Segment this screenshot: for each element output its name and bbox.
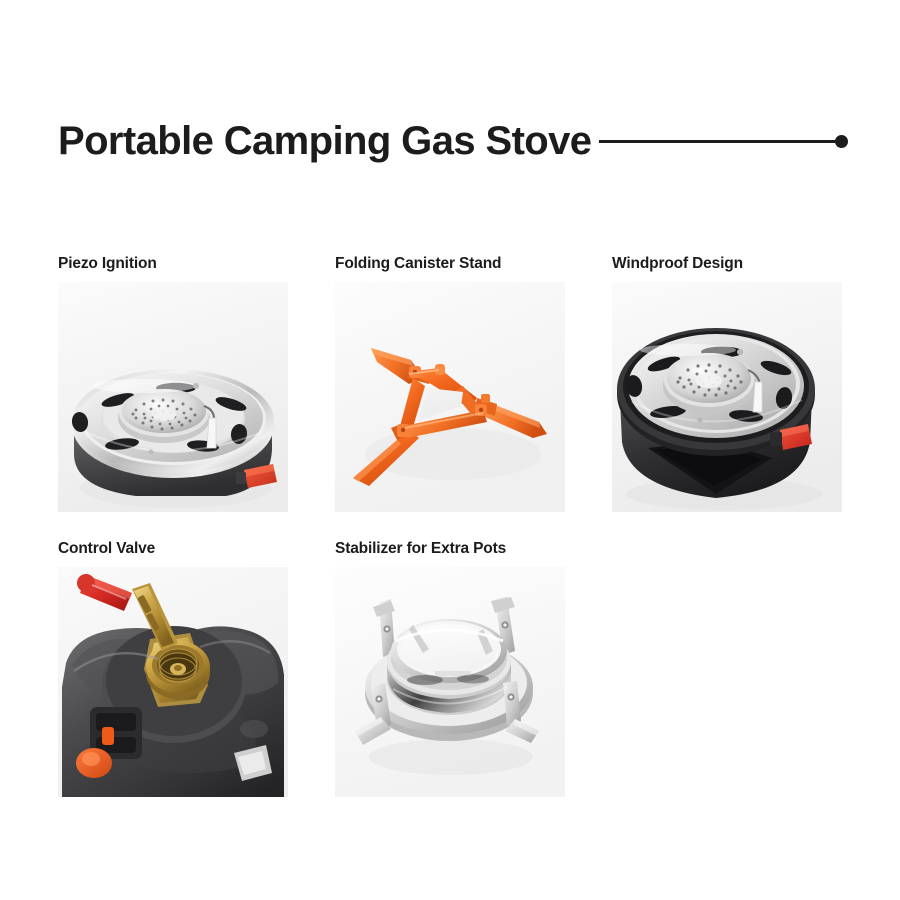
feature-card-label: Piezo Ignition — [58, 255, 288, 273]
stove-burner-angled-with-red-igniter-image — [58, 282, 288, 512]
page-header: Portable Camping Gas Stove — [58, 112, 848, 170]
orange-tripod-canister-stand-image — [335, 282, 565, 512]
feature-card-folding-canister-stand[interactable]: Folding Canister Stand — [335, 255, 565, 512]
feature-card-stabilizer-for-extra-pots[interactable]: Stabilizer for Extra Pots — [335, 540, 565, 797]
rule-line — [599, 140, 838, 143]
feature-card-windproof-design[interactable]: Windproof Design — [612, 255, 842, 512]
title-rule-icon — [599, 134, 848, 148]
rule-end-dot-icon — [835, 135, 848, 148]
feature-card-label: Windproof Design — [612, 255, 842, 273]
feature-row: Control Valve — [58, 540, 848, 797]
page-root: Portable Camping Gas Stove Piezo Ignitio… — [0, 0, 900, 900]
page-title: Portable Camping Gas Stove — [58, 121, 591, 161]
feature-row: Piezo Ignition — [58, 255, 848, 512]
feature-grid: Piezo Ignition — [58, 255, 848, 825]
feature-card-control-valve[interactable]: Control Valve — [58, 540, 288, 797]
stove-top-view-windproof-body-image — [612, 282, 842, 512]
feature-card-label: Stabilizer for Extra Pots — [335, 540, 565, 558]
feature-card-piezo-ignition[interactable]: Piezo Ignition — [58, 255, 288, 512]
feature-card-label: Folding Canister Stand — [335, 255, 565, 273]
stainless-pot-stabilizer-ring-image — [335, 567, 565, 797]
brass-control-valve-with-red-handle-image — [58, 567, 288, 797]
feature-card-label: Control Valve — [58, 540, 288, 558]
